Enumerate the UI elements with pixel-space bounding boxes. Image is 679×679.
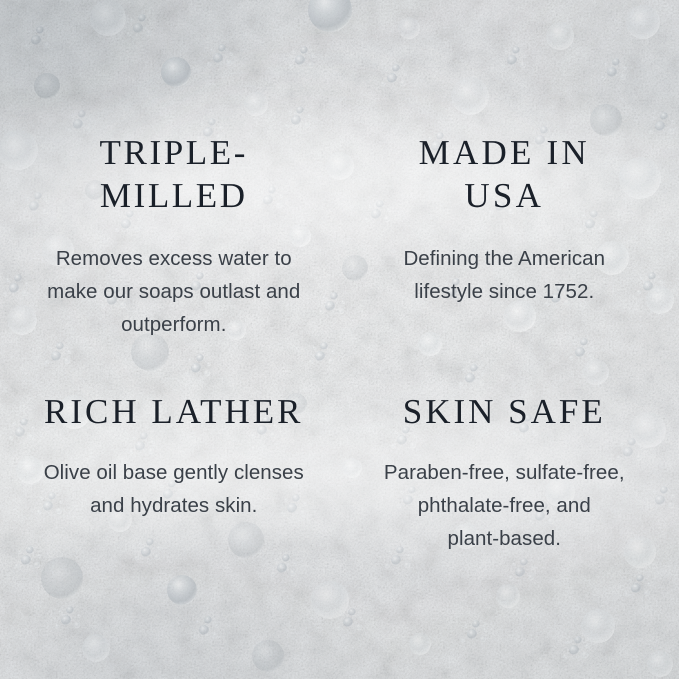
feature-description: Olive oil base gently clenses and hydrat… [44,456,304,522]
feature-skin-safe: SKIN SAFE Paraben-free, sulfate-free, ph… [340,341,679,679]
product-features-panel: TRIPLE- MILLED Removes excess water to m… [0,0,679,679]
features-grid: TRIPLE- MILLED Removes excess water to m… [0,0,679,679]
feature-description: Paraben-free, sulfate-free, phthalate-fr… [384,456,625,555]
feature-rich-lather: RICH LATHER Olive oil base gently clense… [0,341,340,679]
feature-title: MADE IN USA [419,131,590,217]
feature-triple-milled: TRIPLE- MILLED Removes excess water to m… [0,0,340,341]
feature-title: TRIPLE- MILLED [100,131,248,217]
feature-made-in-usa: MADE IN USA Defining the American lifest… [340,0,679,341]
feature-description: Removes excess water to make our soaps o… [47,242,300,341]
feature-title: SKIN SAFE [403,391,606,433]
feature-description: Defining the American lifestyle since 17… [403,242,605,308]
feature-title: RICH LATHER [44,391,304,433]
